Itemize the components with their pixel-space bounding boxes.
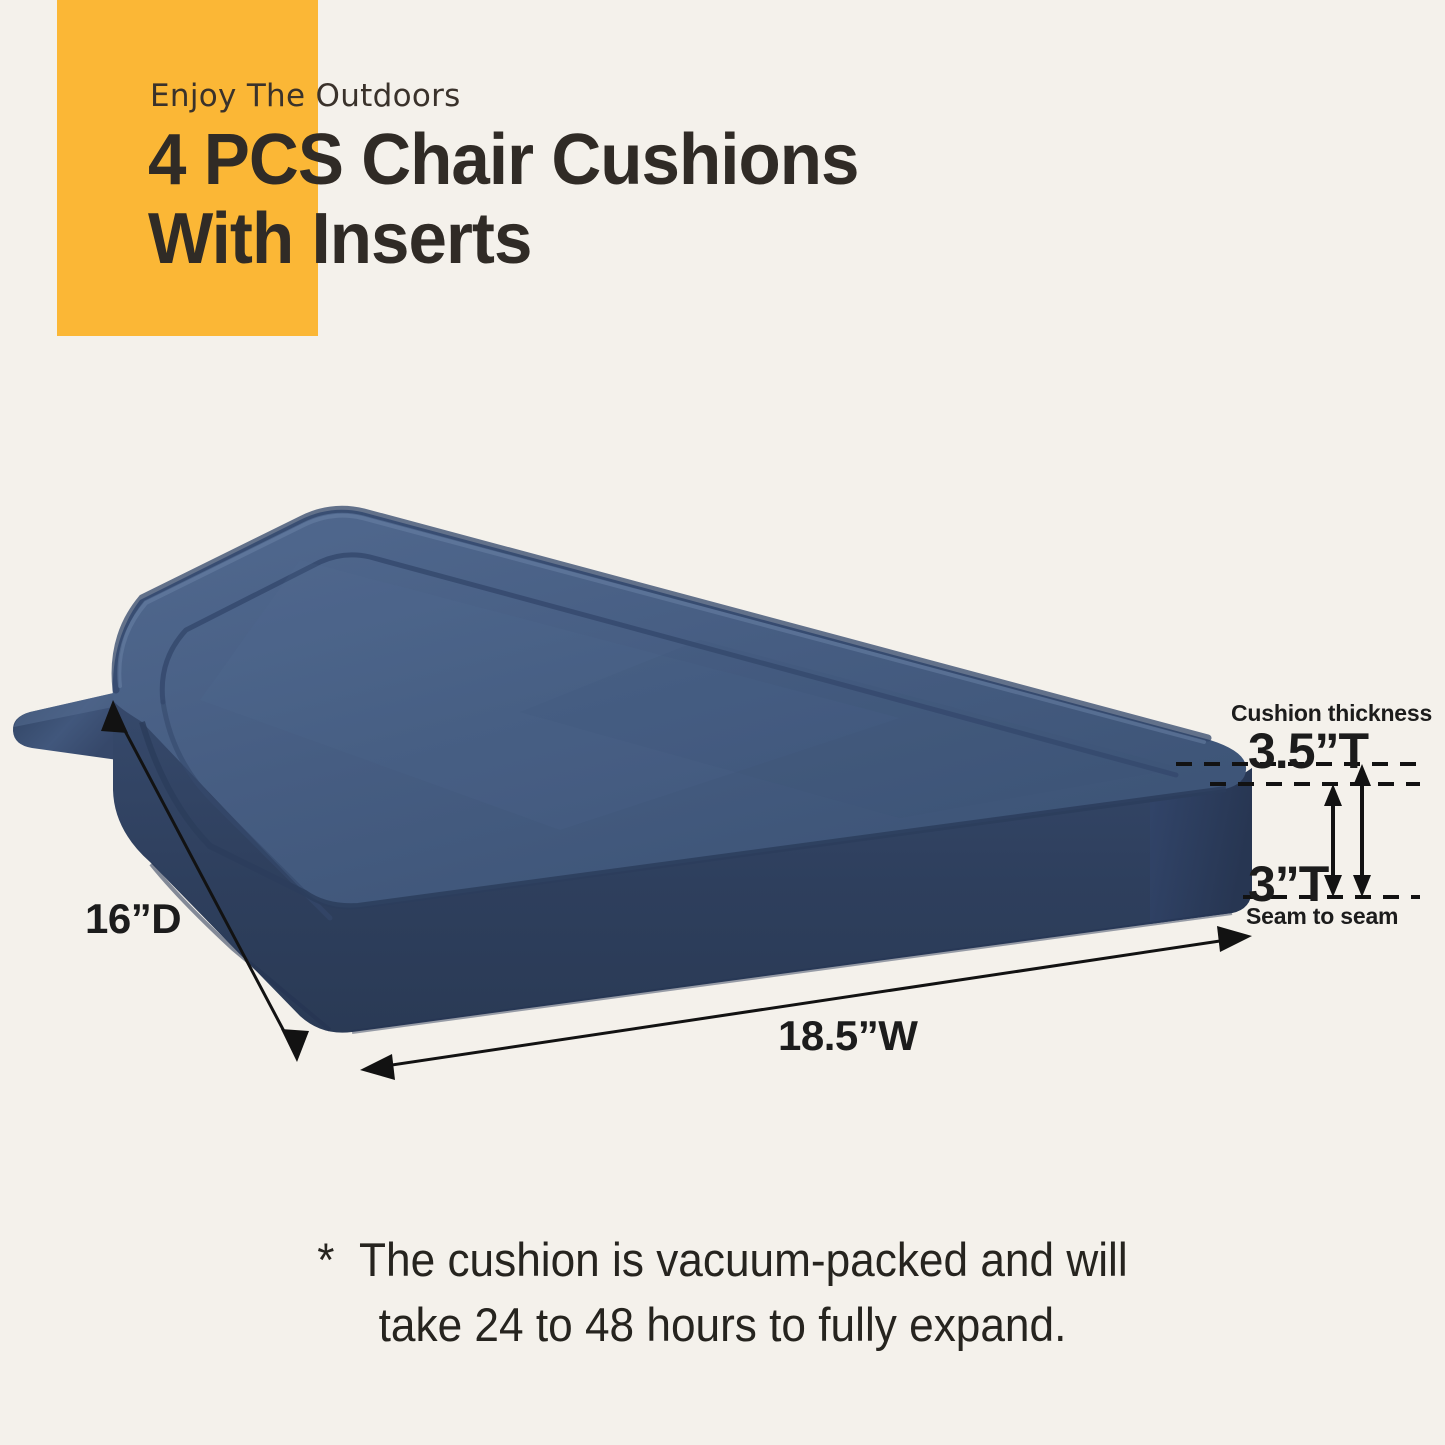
depth-label: 16”D bbox=[85, 895, 181, 943]
seam-to-seam-caption: Seam to seam bbox=[1246, 903, 1398, 930]
footnote-text-1: The cushion is vacuum-packed and will bbox=[359, 1233, 1128, 1286]
footnote-line-1: * The cushion is vacuum-packed and will bbox=[43, 1228, 1401, 1293]
width-label: 18.5”W bbox=[778, 1012, 917, 1060]
handle-tab-icon bbox=[13, 692, 118, 760]
width-arrowhead-left bbox=[360, 1054, 395, 1080]
asterisk-icon: * bbox=[317, 1233, 334, 1286]
footnote: * The cushion is vacuum-packed and will … bbox=[43, 1228, 1401, 1358]
footnote-line-2: take 24 to 48 hours to fully expand. bbox=[43, 1293, 1401, 1358]
thickness-total-label: 3.5”T bbox=[1248, 722, 1368, 780]
depth-arrowhead-bottom bbox=[281, 1029, 309, 1062]
thickness-arrows bbox=[1333, 772, 1362, 890]
infographic-canvas: Enjoy The Outdoors 4 PCS Chair Cushions … bbox=[0, 0, 1445, 1445]
